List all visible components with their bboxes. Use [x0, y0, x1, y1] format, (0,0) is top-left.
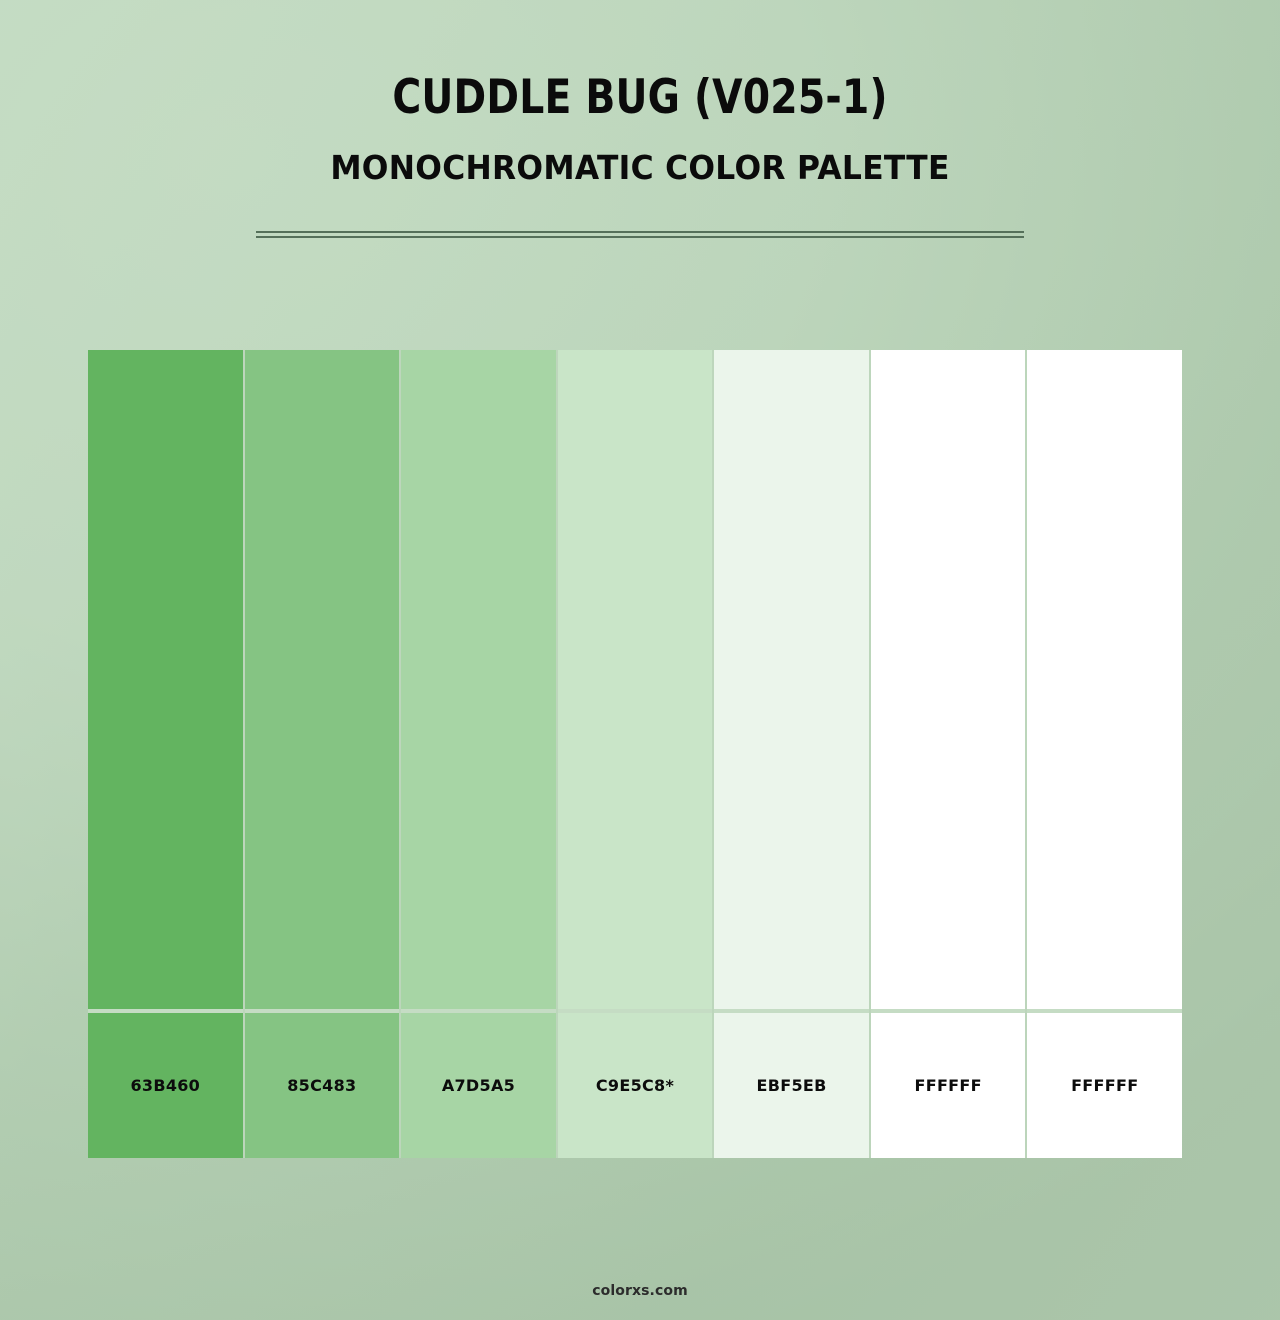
palette-page: CUDDLE BUG (V025-1) MONOCHROMATIC COLOR … [0, 0, 1280, 1320]
swatch-hex-label: 63B460 [130, 1076, 200, 1095]
footer-site-label: colorxs.com [592, 1283, 688, 1299]
header: CUDDLE BUG (V025-1) MONOCHROMATIC COLOR … [0, 0, 1280, 187]
title-divider [256, 231, 1024, 238]
color-palette: 63B46085C483A7D5A5C9E5C8*EBF5EBFFFFFFFFF… [88, 350, 1182, 1158]
swatch-hex-label: FFFFFF [914, 1076, 981, 1095]
swatch-color-chip[interactable] [401, 350, 556, 1009]
page-subtitle: MONOCHROMATIC COLOR PALETTE [32, 125, 1248, 187]
page-title: CUDDLE BUG (V025-1) [45, 0, 1235, 125]
swatch-hex-label: C9E5C8* [596, 1076, 674, 1095]
swatch-column[interactable]: EBF5EB [714, 350, 871, 1158]
swatch-label-box[interactable]: C9E5C8* [558, 1013, 713, 1158]
swatch-column[interactable]: A7D5A5 [401, 350, 558, 1158]
swatch-label-box[interactable]: 85C483 [245, 1013, 400, 1158]
swatch-label-box[interactable]: FFFFFF [1027, 1013, 1182, 1158]
swatch-label-box[interactable]: A7D5A5 [401, 1013, 556, 1158]
swatch-label-box[interactable]: EBF5EB [714, 1013, 869, 1158]
swatch-label-box[interactable]: FFFFFF [871, 1013, 1026, 1158]
swatch-hex-label: FFFFFF [1071, 1076, 1138, 1095]
swatch-color-chip[interactable] [871, 350, 1026, 1009]
footer: colorxs.com [0, 1282, 1280, 1300]
swatch-column[interactable]: 85C483 [245, 350, 402, 1158]
swatch-color-chip[interactable] [245, 350, 400, 1009]
divider-line-top [256, 231, 1024, 233]
swatch-column[interactable]: FFFFFF [871, 350, 1028, 1158]
swatch-color-chip[interactable] [714, 350, 869, 1009]
swatch-color-chip[interactable] [1027, 350, 1182, 1009]
swatch-column[interactable]: C9E5C8* [558, 350, 715, 1158]
swatch-color-chip[interactable] [88, 350, 243, 1009]
swatch-label-box[interactable]: 63B460 [88, 1013, 243, 1158]
swatch-column[interactable]: 63B460 [88, 350, 245, 1158]
swatch-hex-label: A7D5A5 [442, 1076, 515, 1095]
swatch-color-chip[interactable] [558, 350, 713, 1009]
swatch-hex-label: 85C483 [287, 1076, 356, 1095]
swatch-hex-label: EBF5EB [757, 1076, 827, 1095]
divider-line-bottom [256, 236, 1024, 238]
swatch-column[interactable]: FFFFFF [1027, 350, 1182, 1158]
